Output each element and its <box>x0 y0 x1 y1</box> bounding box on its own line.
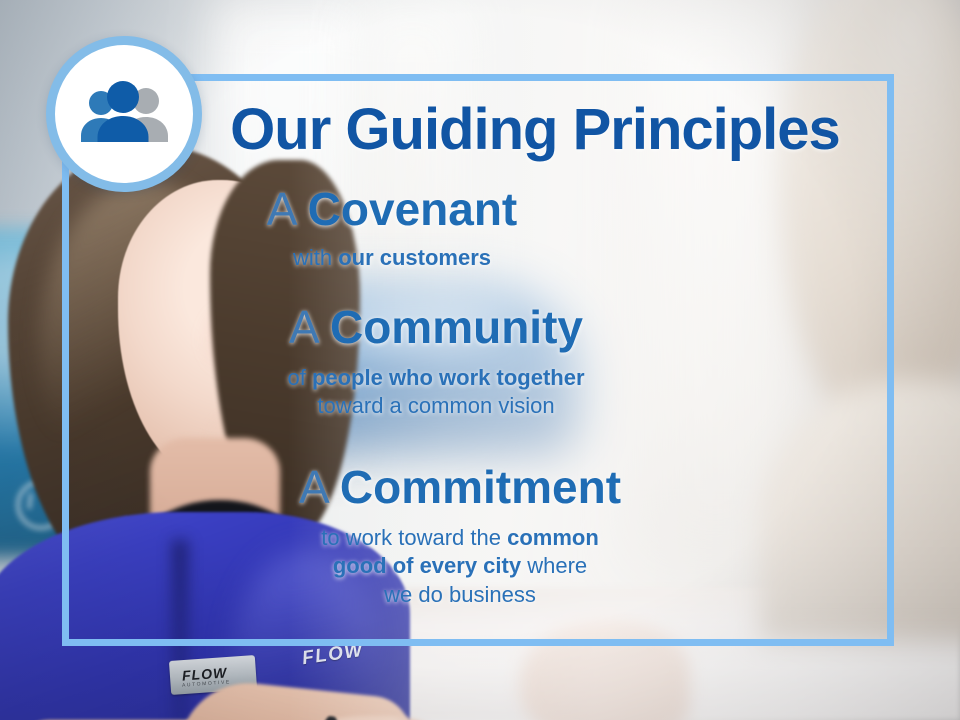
principle-word: Community <box>330 301 583 353</box>
principle-body: to work toward the commongood of every c… <box>0 524 920 610</box>
customer-blurred <box>770 0 960 500</box>
principle-body-line: with our customers <box>0 244 784 273</box>
principle-body-line: we do business <box>0 581 920 610</box>
principle-lead: A <box>289 301 317 353</box>
principle-body: of people who work togethertoward a comm… <box>0 364 872 421</box>
customer-hair-highlight <box>866 0 960 400</box>
principle-word: Covenant <box>308 183 518 235</box>
principle-lead: A <box>267 183 295 235</box>
principle-lead: A <box>299 461 327 513</box>
principle-body-line: toward a common vision <box>0 392 872 421</box>
principle-body-line: good of every city where <box>0 552 920 581</box>
principle-word: Commitment <box>340 461 621 513</box>
page-title: Our Guiding Principles <box>0 96 960 163</box>
principle-heading: A Commitment <box>0 464 920 512</box>
poster: FLOW AUTOMOTIVE FLOW <box>0 0 960 720</box>
principle-heading: A Covenant <box>0 186 784 234</box>
principle-covenant: A Covenant with our customers <box>0 186 784 272</box>
principle-heading: A Community <box>0 304 872 352</box>
principle-community: A Community of people who work togethert… <box>0 304 872 421</box>
principle-body-line: of people who work together <box>0 364 872 393</box>
principle-body-line: to work toward the common <box>0 524 920 553</box>
principle-commitment: A Commitment to work toward the commongo… <box>0 464 920 610</box>
principle-body: with our customers <box>0 244 784 273</box>
